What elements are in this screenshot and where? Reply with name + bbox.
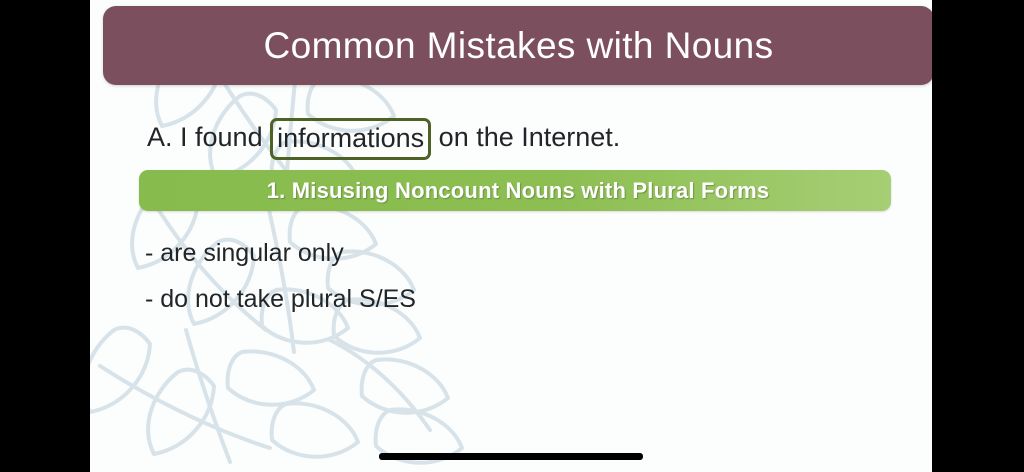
bullet-list: - are singular only - do not take plural…	[145, 230, 416, 322]
letterbox-bar-right	[932, 0, 1024, 472]
letterbox-bar-left	[0, 0, 90, 472]
video-player-frame: Common Mistakes with Nouns A. I found in…	[0, 0, 1024, 472]
presentation-slide: Common Mistakes with Nouns A. I found in…	[90, 0, 932, 472]
list-item: - do not take plural S/ES	[145, 276, 416, 322]
section-heading-text: 1. Misusing Noncount Nouns with Plural F…	[261, 178, 770, 204]
page-title: Common Mistakes with Nouns	[263, 27, 773, 64]
bottom-horizontal-rule	[379, 453, 643, 460]
example-sentence: A. I found informations on the Internet.	[147, 117, 620, 159]
example-sentence-suffix: on the Internet.	[431, 122, 620, 152]
highlighted-error-word: informations	[270, 118, 431, 160]
slide-title-banner: Common Mistakes with Nouns	[103, 6, 932, 85]
list-item: - are singular only	[145, 230, 416, 276]
example-sentence-prefix: A. I found	[147, 122, 270, 152]
section-heading-banner: 1. Misusing Noncount Nouns with Plural F…	[139, 170, 891, 211]
